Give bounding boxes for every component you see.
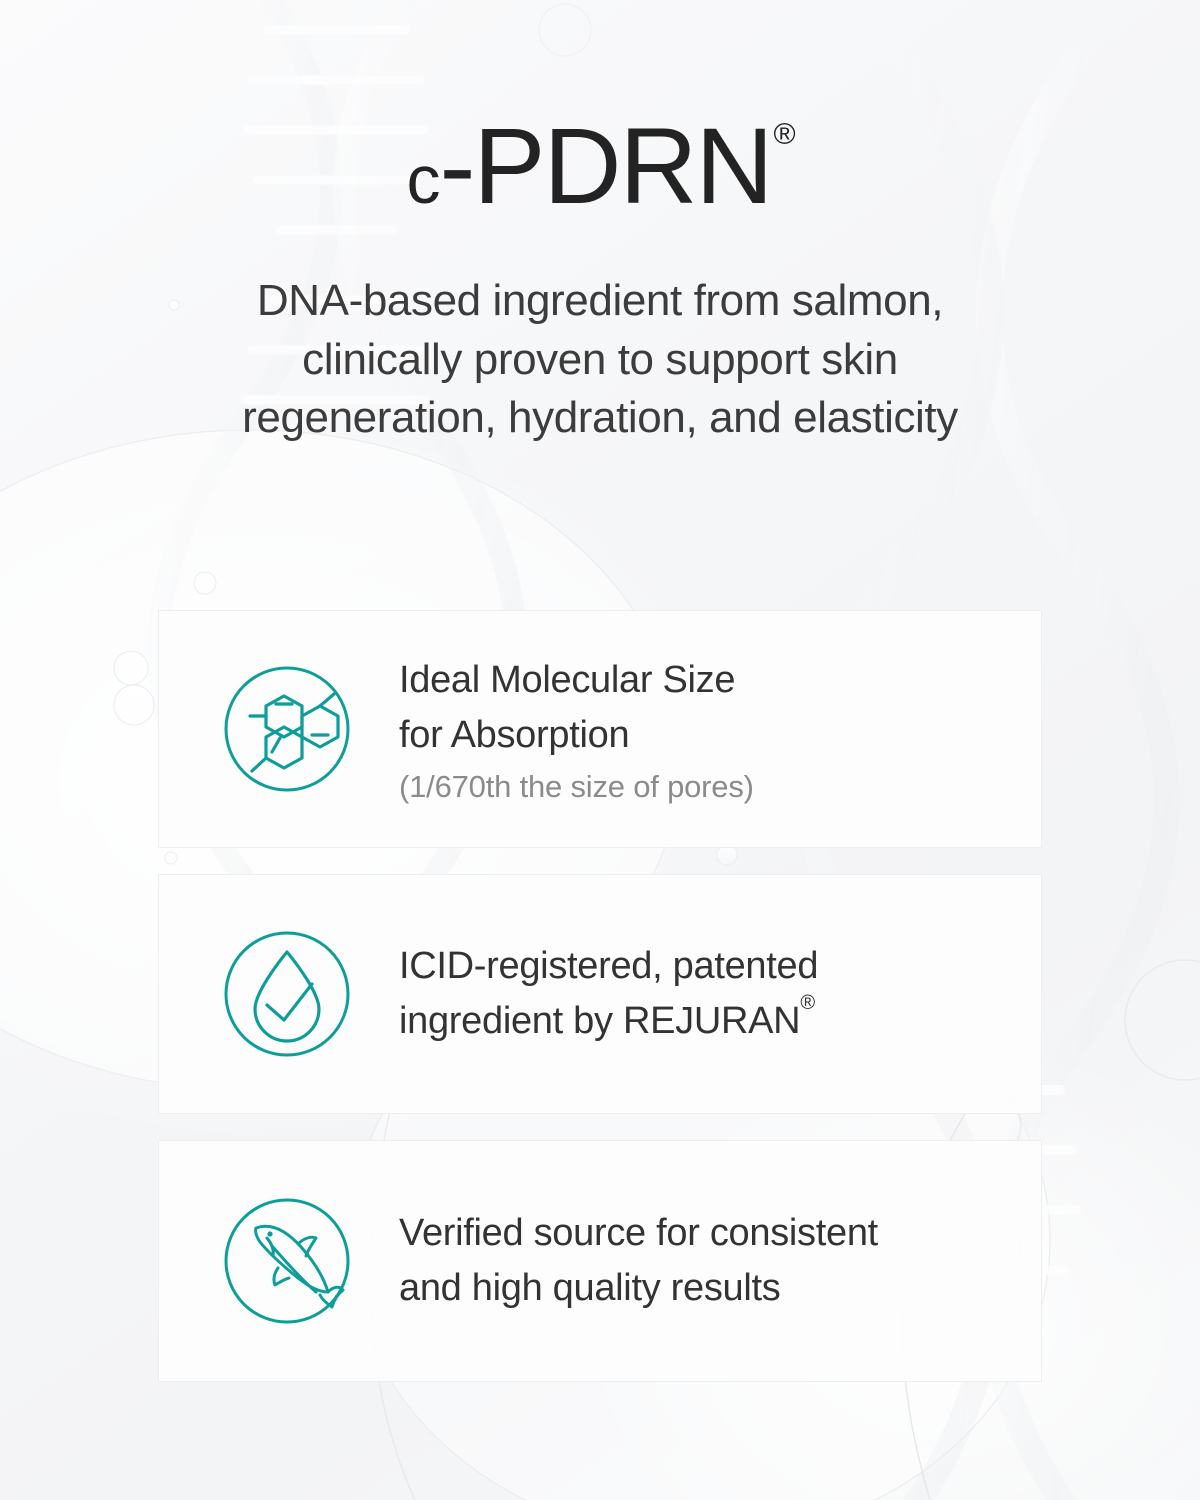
- subtitle-line-1: DNA-based ingredient from salmon,: [0, 272, 1200, 331]
- feature-card-title-line-2: for Absorption: [399, 708, 754, 763]
- feature-card-icid-registered: ICID-registered, patented ingredient by …: [158, 874, 1042, 1114]
- subtitle: DNA-based ingredient from salmon, clinic…: [0, 220, 1200, 448]
- subtitle-line-3: regeneration, hydration, and elasticity: [0, 389, 1200, 448]
- feature-card-verified-source: Verified source for consistent and high …: [158, 1140, 1042, 1382]
- feature-card-list: Ideal Molecular Size for Absorption (1/6…: [158, 610, 1042, 1382]
- feature-card-title: Verified source for consistent and high …: [399, 1206, 878, 1316]
- feature-card-title-line-1: ICID-registered, patented: [399, 939, 818, 994]
- page-title: c-PDRN®: [0, 0, 1200, 220]
- brand-prefix: c: [406, 142, 439, 218]
- fish-icon: [211, 1185, 363, 1337]
- feature-card-title-line-1: Ideal Molecular Size: [399, 653, 754, 708]
- subtitle-line-2: clinically proven to support skin: [0, 331, 1200, 390]
- brand-name: -PDRN: [439, 105, 771, 226]
- product-ingredient-infographic: c-PDRN® DNA-based ingredient from salmon…: [0, 0, 1200, 1500]
- water-drop-check-icon: [211, 918, 363, 1070]
- feature-card-text: ICID-registered, patented ingredient by …: [399, 939, 818, 1049]
- feature-card-title-line-2: ingredient by REJURAN®: [399, 994, 818, 1049]
- feature-card-title: Ideal Molecular Size for Absorption: [399, 653, 754, 763]
- feature-card-title-line-2-text: ingredient by REJURAN: [399, 1000, 800, 1042]
- feature-card-title-line-1: Verified source for consistent: [399, 1206, 878, 1261]
- feature-card-text: Verified source for consistent and high …: [399, 1206, 878, 1316]
- header: c-PDRN® DNA-based ingredient from salmon…: [0, 0, 1200, 448]
- molecule-icon: [211, 653, 363, 805]
- feature-card-title-line-2: and high quality results: [399, 1261, 878, 1316]
- registered-trademark-icon: ®: [800, 992, 814, 1014]
- feature-card-title: ICID-registered, patented ingredient by …: [399, 939, 818, 1049]
- registered-trademark-icon: ®: [773, 118, 795, 151]
- feature-card-molecular-size: Ideal Molecular Size for Absorption (1/6…: [158, 610, 1042, 848]
- feature-card-text: Ideal Molecular Size for Absorption (1/6…: [399, 653, 754, 805]
- feature-card-note: (1/670th the size of pores): [399, 769, 754, 805]
